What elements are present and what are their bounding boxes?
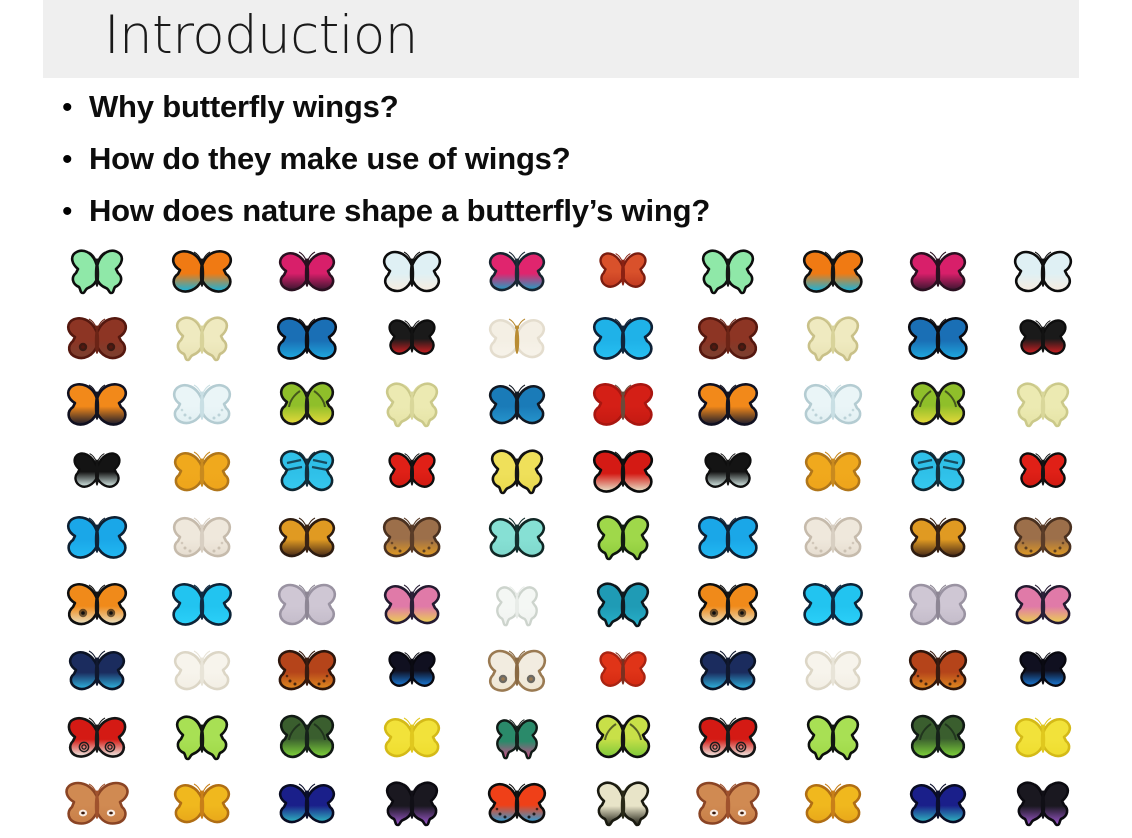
- butterfly-blue-black-morpho-type: blue-black-morpho-type: [254, 305, 359, 372]
- butterfly-scarlet-red-wing: scarlet-red-wing: [570, 371, 675, 438]
- bullet-item-label: Why butterfly wings?: [89, 84, 1078, 130]
- butterfly-grid-row: navy-cyan-nymphalid: [44, 637, 1096, 704]
- butterfly-green-black-swallowtail: green-black-swallowtail: [570, 504, 675, 571]
- presentation-slide: Introduction • Why butterfly wings? • Ho…: [0, 0, 1132, 837]
- butterfly-black-red-longwing: black-red-longwing: [991, 305, 1096, 372]
- butterfly-teal-black-swallowtail: teal-black-swallowtail: [570, 571, 675, 638]
- butterfly-peacock-butterfly: peacock-butterfly: [675, 305, 780, 372]
- butterfly-grey-lavender-moth: grey-lavender-moth: [886, 571, 991, 638]
- butterfly-red-black-longwing: red-black-longwing: [360, 438, 465, 505]
- butterfly-grid-row: green-banded-swallowtail: [44, 238, 1096, 305]
- bullet-item-2: • How do they make use of wings?: [58, 136, 1078, 188]
- butterfly-atlas-moth: atlas-moth: [44, 770, 149, 837]
- butterfly-owl-butterfly-eyespots: owl-butterfly-eyespots: [465, 637, 570, 704]
- butterfly-bright-cyan-morpho: bright-cyan-morpho: [149, 571, 254, 638]
- butterfly-black-white-red-admiral: black-white-red-admiral: [675, 438, 780, 505]
- butterfly-yellow-sulphur: yellow-sulphur: [360, 704, 465, 771]
- page-title: Introduction: [104, 0, 1004, 77]
- butterfly-orange-black-cyan-nymphalid: orange-black-cyan-nymphalid: [149, 238, 254, 305]
- butterfly-green-birdwing: green-birdwing: [886, 704, 991, 771]
- butterfly-pale-yellow-swallowtail: pale-yellow-swallowtail: [780, 305, 885, 372]
- butterfly-grid-row: blue-morpho: [44, 504, 1096, 571]
- butterfly-golden-yellow-moth: golden-yellow-moth: [149, 770, 254, 837]
- butterfly-multicolor-small-swallowtail: multicolor-small-swallowtail: [465, 704, 570, 771]
- bullet-marker-icon: •: [58, 145, 89, 175]
- butterfly-pink-yellow-nymphalid: pink-yellow-nymphalid: [360, 571, 465, 638]
- butterfly-cyan-striped-swallowtail: cyan-striped-swallowtail: [254, 438, 359, 505]
- butterfly-grid-row: eighty-eight-butterfly: [44, 704, 1096, 771]
- butterfly-brown-orange-gradient: brown-orange-gradient: [254, 504, 359, 571]
- butterfly-brown-orange-gradient: brown-orange-gradient: [886, 504, 991, 571]
- butterfly-cyan-striped-swallowtail: cyan-striped-swallowtail: [886, 438, 991, 505]
- bullet-item-label: How do they make use of wings?: [89, 136, 1078, 182]
- butterfly-pale-blue-white-pierid: pale-blue-white-pierid: [149, 371, 254, 438]
- butterfly-white-yellow-spot-pierid: white-yellow-spot-pierid: [149, 637, 254, 704]
- slide-title-band: Introduction: [43, 0, 1079, 78]
- butterfly-black-cream-mocker-swallowtail: black-cream-mocker-swallowtail: [570, 770, 675, 837]
- bullet-list: • Why butterfly wings? • How do they mak…: [58, 84, 1078, 240]
- butterfly-red-black-longwing: red-black-longwing: [991, 438, 1096, 505]
- butterfly-green-yellow-birdwing: green-yellow-birdwing: [886, 371, 991, 438]
- butterfly-white-banded-admiral: white-banded-admiral: [360, 238, 465, 305]
- butterfly-green-birdwing: green-birdwing: [254, 704, 359, 771]
- butterfly-navy-cyan-nymphalid: navy-cyan-nymphalid: [44, 637, 149, 704]
- butterfly-brown-orange-satyr: brown-orange-satyr: [360, 504, 465, 571]
- butterfly-small-purple-swallowtail: small-purple-swallowtail: [360, 770, 465, 837]
- butterfly-yellow-sulphur: yellow-sulphur: [991, 704, 1096, 771]
- butterfly-collage-grid: green-banded-swallowtail: [44, 238, 1096, 838]
- butterfly-white-yellow-spot-pierid: white-yellow-spot-pierid: [780, 637, 885, 704]
- butterfly-golden-orange-moth: golden-orange-moth: [780, 438, 885, 505]
- butterfly-bright-cyan-morpho: bright-cyan-morpho: [780, 571, 885, 638]
- butterfly-green-spotted-swallowtail: green-spotted-swallowtail: [780, 704, 885, 771]
- butterfly-green-spotted-swallowtail: green-spotted-swallowtail: [149, 704, 254, 771]
- butterfly-grid-row: tiger-striped-eyespot-nymphalid: [44, 571, 1096, 638]
- butterfly-lacewing-pattern-moth: lacewing-pattern-moth: [149, 504, 254, 571]
- butterfly-brown-orange-satyr: brown-orange-satyr: [991, 504, 1096, 571]
- butterfly-small-purple-swallowtail: small-purple-swallowtail: [991, 770, 1096, 837]
- butterfly-orange-blotch-nymphalid: orange-blotch-nymphalid: [44, 371, 149, 438]
- butterfly-grid-row: orange-blotch-nymphalid: [44, 371, 1096, 438]
- butterfly-grid-row: peacock-butterfly: [44, 305, 1096, 372]
- bullet-marker-icon: •: [58, 93, 89, 123]
- butterfly-eighty-eight-butterfly: eighty-eight-butterfly: [675, 704, 780, 771]
- butterfly-grey-lavender-moth: grey-lavender-moth: [254, 571, 359, 638]
- butterfly-deep-blue-teal-nymphalid: deep-blue-teal-nymphalid: [254, 770, 359, 837]
- butterfly-peacock-butterfly: peacock-butterfly: [44, 305, 149, 372]
- butterfly-luna-pale-yellow: luna-pale-yellow: [991, 371, 1096, 438]
- butterfly-tiger-swallowtail: tiger-swallowtail: [465, 438, 570, 505]
- butterfly-grid-row: atlas-moth: [44, 770, 1096, 837]
- butterfly-black-white-red-admiral: black-white-red-admiral: [44, 438, 149, 505]
- butterfly-red-clearwing: red-clearwing: [570, 637, 675, 704]
- butterfly-tiger-striped-eyespot-nymphalid: tiger-striped-eyespot-nymphalid: [44, 571, 149, 638]
- butterfly-pink-teal-nymphalid: pink-teal-nymphalid: [465, 238, 570, 305]
- butterfly-tiger-striped-eyespot-nymphalid: tiger-striped-eyespot-nymphalid: [675, 571, 780, 638]
- butterfly-rust-orange-fritillary: rust-orange-fritillary: [254, 637, 359, 704]
- butterfly-golden-orange-moth: golden-orange-moth: [149, 438, 254, 505]
- butterfly-grid-row: black-white-red-admiral: [44, 438, 1096, 505]
- butterfly-atlas-moth: atlas-moth: [675, 770, 780, 837]
- butterfly-deep-blue-black: deep-blue-black: [360, 637, 465, 704]
- bullet-item-label: How does nature shape a butterfly’s wing…: [89, 188, 1078, 234]
- butterfly-red-orange-moth: red-orange-moth: [570, 238, 675, 305]
- butterfly-blue-morpho: blue-morpho: [675, 504, 780, 571]
- bullet-item-1: • Why butterfly wings?: [58, 84, 1078, 136]
- butterfly-pink-yellow-nymphalid: pink-yellow-nymphalid: [991, 571, 1096, 638]
- butterfly-green-yellow-birdwing: green-yellow-birdwing: [254, 371, 359, 438]
- butterfly-orange-black-cyan-nymphalid: orange-black-cyan-nymphalid: [780, 238, 885, 305]
- butterfly-luna-pale-yellow: luna-pale-yellow: [360, 371, 465, 438]
- butterfly-black-red-spot-nymphalid: black-red-spot-nymphalid: [465, 770, 570, 837]
- butterfly-blue-morpho: blue-morpho: [570, 305, 675, 372]
- butterfly-navy-cyan-nymphalid: navy-cyan-nymphalid: [675, 637, 780, 704]
- butterfly-magenta-violet-darkwing: magenta-violet-darkwing: [886, 238, 991, 305]
- butterfly-orange-blotch-nymphalid: orange-blotch-nymphalid: [675, 371, 780, 438]
- butterfly-pale-blue-white-pierid: pale-blue-white-pierid: [780, 371, 885, 438]
- butterfly-white-kite-swallowtail: white-kite-swallowtail: [465, 571, 570, 638]
- butterfly-green-banded-swallowtail: green-banded-swallowtail: [44, 238, 149, 305]
- butterfly-deep-blue-teal-nymphalid: deep-blue-teal-nymphalid: [886, 770, 991, 837]
- butterfly-green-black-birdwing: green-black-birdwing: [570, 704, 675, 771]
- butterfly-blue-black-nymphalid: blue-black-nymphalid: [465, 371, 570, 438]
- butterfly-pale-yellow-swallowtail: pale-yellow-swallowtail: [149, 305, 254, 372]
- bullet-marker-icon: •: [58, 197, 89, 227]
- butterfly-black-red-longwing: black-red-longwing: [360, 305, 465, 372]
- butterfly-green-banded-swallowtail: green-banded-swallowtail: [675, 238, 780, 305]
- butterfly-pale-turquoise-nymphalid: pale-turquoise-nymphalid: [465, 504, 570, 571]
- butterfly-white-banded-admiral: white-banded-admiral: [991, 238, 1096, 305]
- butterfly-deep-blue-black: deep-blue-black: [991, 637, 1096, 704]
- butterfly-blue-black-morpho-type: blue-black-morpho-type: [886, 305, 991, 372]
- butterfly-magenta-violet-darkwing: magenta-violet-darkwing: [254, 238, 359, 305]
- butterfly-blue-morpho: blue-morpho: [44, 504, 149, 571]
- butterfly-lacewing-pattern-moth: lacewing-pattern-moth: [780, 504, 885, 571]
- bullet-item-3: • How does nature shape a butterfly’s wi…: [58, 188, 1078, 240]
- butterfly-golden-yellow-moth: golden-yellow-moth: [780, 770, 885, 837]
- butterfly-rust-orange-fritillary: rust-orange-fritillary: [886, 637, 991, 704]
- butterfly-black-red-postman: black-red-postman: [570, 438, 675, 505]
- butterfly-eighty-eight-butterfly: eighty-eight-butterfly: [44, 704, 149, 771]
- butterfly-cream-white-satyr: cream-white-satyr: [465, 305, 570, 372]
